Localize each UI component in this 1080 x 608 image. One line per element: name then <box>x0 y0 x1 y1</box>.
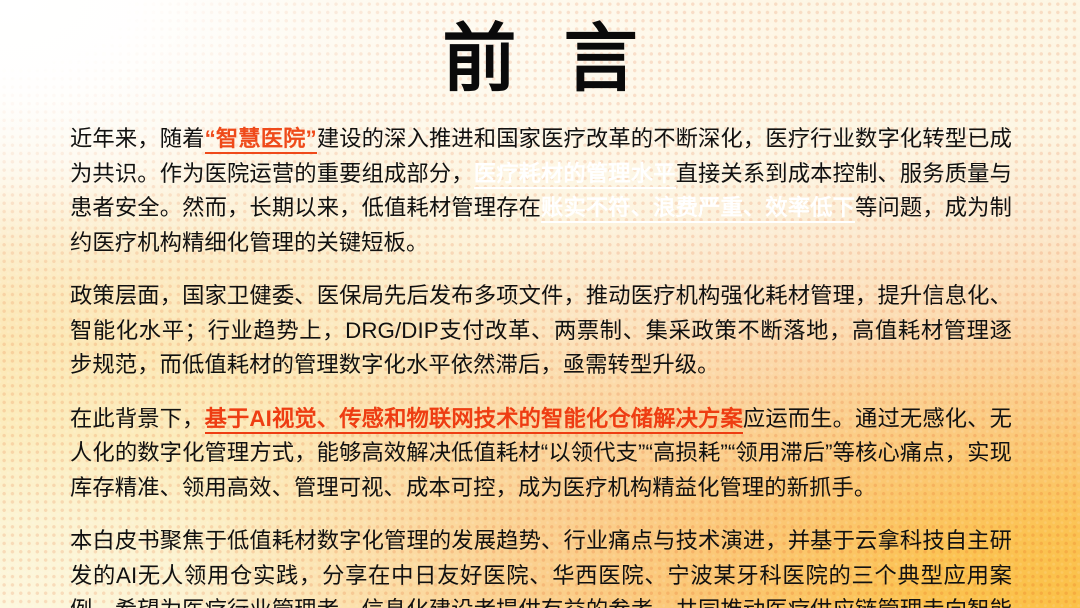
text-run: 本白皮书聚焦于低值耗材数字化管理的发展趋势、行业痛点与技术演进，并基于云拿科技自… <box>70 528 1012 608</box>
emphasis-white: 账实不符、浪费严重、效率低下 <box>541 195 855 223</box>
emphasis-orange: “智慧医院” <box>205 126 317 154</box>
text-run: 近年来，随着 <box>70 126 205 151</box>
paragraph-4: 本白皮书聚焦于低值耗材数字化管理的发展趋势、行业痛点与技术演进，并基于云拿科技自… <box>70 524 1012 608</box>
slide-content: 前 言 近年来，随着“智慧医院”建设的深入推进和国家医疗改革的不断深化，医疗行业… <box>0 0 1080 608</box>
body-copy: 近年来，随着“智慧医院”建设的深入推进和国家医疗改革的不断深化，医疗行业数字化转… <box>70 122 1012 608</box>
paragraph-3: 在此背景下，基于AI视觉、传感和物联网技术的智能化仓储解决方案应运而生。通过无感… <box>70 402 1012 506</box>
text-run: 政策层面，国家卫健委、医保局先后发布多项文件，推动医疗机构强化耗材管理，提升信息… <box>70 283 1012 377</box>
emphasis-white: 医疗耗材的管理水平 <box>474 161 676 189</box>
page-title: 前 言 <box>0 22 1080 96</box>
slide-root: 前 言 近年来，随着“智慧医院”建设的深入推进和国家医疗改革的不断深化，医疗行业… <box>0 0 1080 608</box>
paragraph-1: 近年来，随着“智慧医院”建设的深入推进和国家医疗改革的不断深化，医疗行业数字化转… <box>70 122 1012 260</box>
text-run: 在此背景下， <box>70 406 205 431</box>
paragraph-2: 政策层面，国家卫健委、医保局先后发布多项文件，推动医疗机构强化耗材管理，提升信息… <box>70 279 1012 383</box>
emphasis-red: 基于AI视觉、传感和物联网技术的智能化仓储解决方案 <box>205 406 743 434</box>
